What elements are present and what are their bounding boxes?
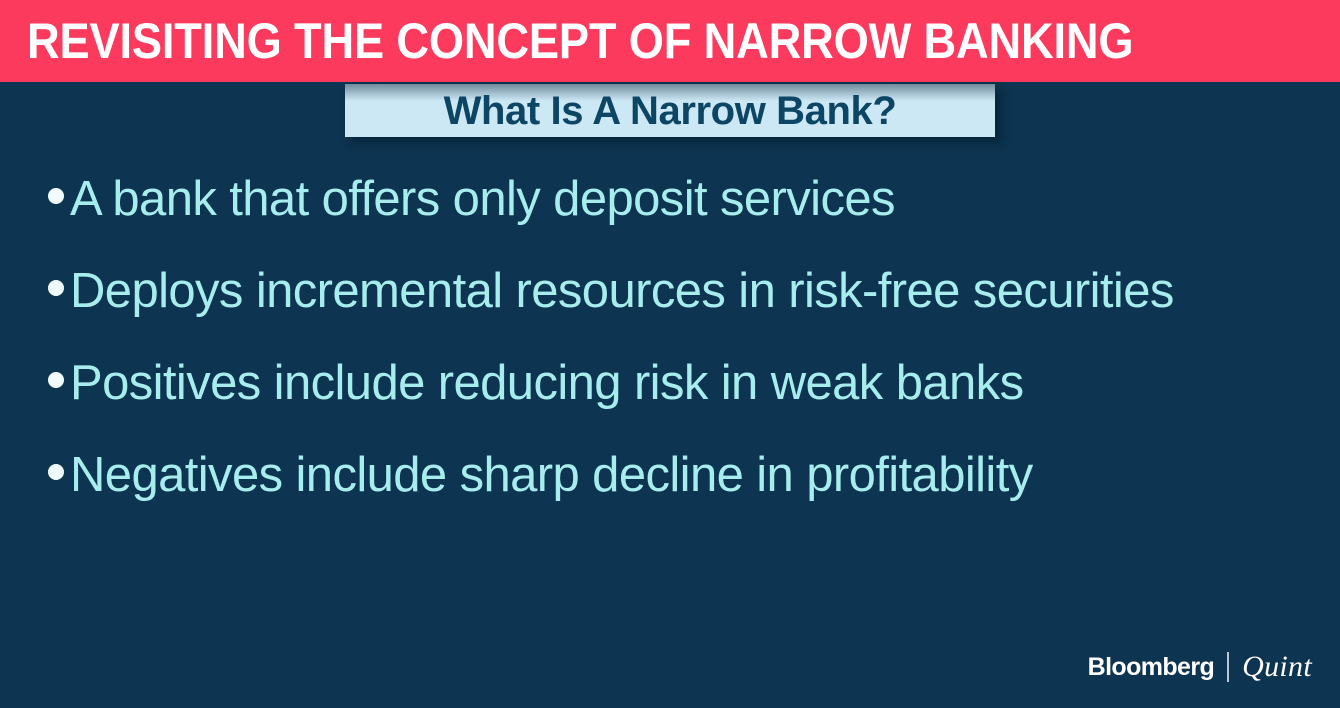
bullet-dot-icon [48,372,64,388]
list-item-label: Negatives include sharp decline in profi… [70,444,1298,506]
header-banner: REVISITING THE CONCEPT OF NARROW BANKING [0,0,1340,82]
list-item: Positives include reducing risk in weak … [48,352,1298,414]
list-item-label: Positives include reducing risk in weak … [70,352,1298,414]
bullet-list: A bank that offers only deposit services… [48,168,1298,506]
subtitle-box: What Is A Narrow Bank? [345,84,995,137]
logo-quint-wordmark: Quint [1242,651,1312,683]
list-item: A bank that offers only deposit services [48,168,1298,230]
logo-divider [1227,652,1229,682]
bullet-dot-icon [48,280,64,296]
brand-logo: Bloomberg Quint [1088,650,1312,684]
page-title: REVISITING THE CONCEPT OF NARROW BANKING [27,15,1133,67]
logo-bloomberg-wordmark: Bloomberg [1088,653,1215,681]
bullet-dot-icon [48,188,64,204]
list-item-label: A bank that offers only deposit services [70,168,1298,230]
bullet-dot-icon [48,464,64,480]
list-item-label: Deploys incremental resources in risk-fr… [70,260,1180,322]
subtitle-text: What Is A Narrow Bank? [345,89,995,133]
slide-canvas: REVISITING THE CONCEPT OF NARROW BANKING… [0,0,1340,708]
list-item: Negatives include sharp decline in profi… [48,444,1298,506]
list-item: Deploys incremental resources in risk-fr… [48,260,1298,322]
